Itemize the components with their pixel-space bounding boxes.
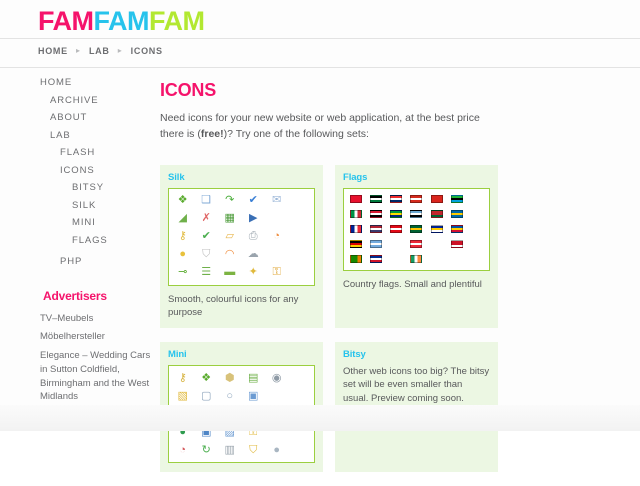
sidebar-item-mini[interactable]: MINI <box>40 218 160 228</box>
flag-bosnia-icon <box>431 225 443 233</box>
shield-icon: ⛉ <box>249 445 257 456</box>
icon-cell: ■ <box>241 405 264 423</box>
flag-zambia-icon <box>350 255 362 263</box>
icon-set-cards: Silk❖❑↷✔✉◢✗▦▶⚷✔▱⎙◔●⛉◠☁⊸☰▬✦⚿Smooth, colou… <box>160 165 622 486</box>
globe-link-icon: ● <box>179 409 186 420</box>
puzzle-icon: ❖ <box>201 373 211 384</box>
flag-cell <box>427 222 447 237</box>
icon-cell <box>265 423 288 441</box>
cart-icon: ⛉ <box>202 249 210 260</box>
icon-cell <box>288 405 311 423</box>
flag-cell <box>386 207 406 222</box>
flag-cell <box>447 207 467 222</box>
resultset-last-icon: ▶ <box>249 213 257 224</box>
icon-cell: ❖ <box>171 192 194 210</box>
sidebar-item-php[interactable]: PHP <box>40 257 160 267</box>
icon-cell: ⚿ <box>265 264 288 282</box>
flag-cell <box>406 222 426 237</box>
icon-cell <box>288 228 311 246</box>
flag-cell <box>386 192 406 207</box>
breadcrumb-item-lab[interactable]: LAB <box>89 46 110 56</box>
flag-cell <box>467 252 487 267</box>
flag-cell <box>406 237 426 252</box>
site-header: FAMFAMFAM <box>0 0 640 34</box>
flag-cell <box>427 207 447 222</box>
chart-line-icon: ✗ <box>202 213 211 224</box>
eye-icon: ◉ <box>272 373 282 384</box>
flag-cell <box>406 207 426 222</box>
sidebar-nav: HOMEARCHIVEABOUTLABFLASHICONSBITSYSILKMI… <box>40 78 160 267</box>
flag-cuba-icon <box>370 255 382 263</box>
page-root: FAMFAMFAM HOME ▸ LAB ▸ ICONS HOMEARCHIVE… <box>0 0 640 431</box>
flag-cell <box>346 192 366 207</box>
icon-cell: ✔ <box>241 192 264 210</box>
sidebar-item-silk[interactable]: SILK <box>40 201 160 211</box>
card-title: Flags <box>343 172 490 183</box>
card-preview-thumbnail[interactable]: ⚷❖⬢▤◉▧▢○▣●□▭■❐●▣▨⚿◔↻▥⛉● <box>168 365 315 463</box>
icon-cell: ⛉ <box>241 441 264 459</box>
breadcrumb-item-home[interactable]: HOME <box>38 46 68 56</box>
flag-cell <box>366 207 386 222</box>
flag-cell <box>467 237 487 252</box>
flag-kyrgyzstan-icon <box>350 195 362 203</box>
breadcrumb-separator-icon: ▸ <box>118 46 123 55</box>
sidebar-item-about[interactable]: ABOUT <box>40 113 160 123</box>
breadcrumb-separator-icon: ▸ <box>76 46 81 55</box>
icon-cell: ☁ <box>241 246 264 264</box>
flag-usa-icon <box>370 225 382 233</box>
card-description: Smooth, colourful icons for any purpose <box>168 293 315 320</box>
lock-icon: ⚿ <box>249 427 257 438</box>
flag-botswana-icon <box>410 210 422 218</box>
key-icon: ⚷ <box>179 373 187 384</box>
page-title: ICONS <box>160 80 622 101</box>
flag-vietnam-icon <box>431 195 443 203</box>
flag-cell <box>386 222 406 237</box>
page-edit-icon: □ <box>203 409 210 420</box>
key-icon: ⚷ <box>179 231 187 242</box>
flag-cell <box>427 237 447 252</box>
disk-icon: ■ <box>250 409 257 420</box>
icon-cell <box>288 192 311 210</box>
icon-cell: ● <box>265 441 288 459</box>
card-preview-thumbnail[interactable]: ❖❑↷✔✉◢✗▦▶⚷✔▱⎙◔●⛉◠☁⊸☰▬✦⚿ <box>168 188 315 286</box>
flag-turkey-icon <box>390 225 402 233</box>
icon-cell: ⛉ <box>194 246 217 264</box>
spellcheck-icon: ✔ <box>249 195 258 206</box>
icon-cell: ⎙ <box>241 228 264 246</box>
breadcrumb: HOME ▸ LAB ▸ ICONS <box>0 39 640 63</box>
icon-cell: ⬢ <box>218 369 241 387</box>
page-columns: HOMEARCHIVEABOUTLABFLASHICONSBITSYSILKMI… <box>0 68 640 486</box>
icon-cell: ▧ <box>171 387 194 405</box>
card-title: Bitsy <box>343 349 490 360</box>
flag-grid <box>346 192 487 267</box>
icon-grid: ⚷❖⬢▤◉▧▢○▣●□▭■❐●▣▨⚿◔↻▥⛉● <box>171 369 312 459</box>
icon-cell: ▭ <box>218 405 241 423</box>
printer-icon: ⎙ <box>249 231 258 242</box>
screen-icon: ▣ <box>201 427 211 438</box>
icon-cell: ● <box>171 423 194 441</box>
advertiser-link[interactable]: TV–Meubels <box>40 312 160 326</box>
icon-cell: ▶ <box>241 210 264 228</box>
flag-argentina-icon <box>370 240 382 248</box>
sitemap-icon: ☰ <box>201 267 211 278</box>
chart-bar-icon: ▦ <box>225 213 235 224</box>
icon-cell: ❑ <box>194 192 217 210</box>
flag-cell <box>366 237 386 252</box>
flag-cell <box>366 192 386 207</box>
sidebar-item-home[interactable]: HOME <box>40 78 160 88</box>
icon-cell: □ <box>194 405 217 423</box>
box-icon: ⬢ <box>225 373 235 384</box>
intro-paragraph: Need icons for your new website or web a… <box>160 111 500 143</box>
flag-cell <box>447 237 467 252</box>
card-preview-thumbnail[interactable] <box>343 188 490 271</box>
icon-cell <box>288 246 311 264</box>
logo-part-2: FAM <box>94 6 150 36</box>
accept-icon: ✔ <box>202 231 211 242</box>
icon-cell: ○ <box>218 387 241 405</box>
icon-cell: ▤ <box>241 369 264 387</box>
icon-cell: ◉ <box>265 369 288 387</box>
icon-cell: ◔ <box>265 228 288 246</box>
icon-cell: ▥ <box>218 441 241 459</box>
flag-cell <box>406 252 426 267</box>
flag-cell <box>366 222 386 237</box>
advertiser-link[interactable]: Elegance – Wedding Cars in Sutton Coldfi… <box>40 349 160 404</box>
icon-cell <box>288 423 311 441</box>
flag-mauritania-icon <box>410 225 422 233</box>
icon-cell: ✉ <box>265 192 288 210</box>
flag-cell <box>346 207 366 222</box>
icon-set-card-silk[interactable]: Silk❖❑↷✔✉◢✗▦▶⚷✔▱⎙◔●⛉◠☁⊸☰▬✦⚿Smooth, colou… <box>160 165 323 329</box>
sidebar-item-flags[interactable]: FLAGS <box>40 236 160 246</box>
flag-cell <box>447 192 467 207</box>
arrow-redo-icon: ↷ <box>225 195 234 206</box>
flag-cell <box>467 222 487 237</box>
chart-area-icon: ◢ <box>179 213 187 224</box>
database-icon: ▧ <box>178 391 188 402</box>
icon-set-card-mini[interactable]: Mini⚷❖⬢▤◉▧▢○▣●□▭■❐●▣▨⚿◔↻▥⛉● <box>160 342 323 472</box>
icon-cell: ⚷ <box>171 228 194 246</box>
folder-icon: ▱ <box>225 231 233 242</box>
icon-cell <box>288 387 311 405</box>
world-icon: ● <box>179 427 186 438</box>
sidebar-item-bitsy[interactable]: BITSY <box>40 183 160 193</box>
flag-cell <box>386 252 406 267</box>
main-content: ICONS Need icons for your new website or… <box>160 68 640 486</box>
icon-cell: ☰ <box>194 264 217 282</box>
flag-sweden-icon <box>451 210 463 218</box>
flag-cell <box>406 192 426 207</box>
flag-indonesia-icon <box>451 240 463 248</box>
flag-cell <box>346 237 366 252</box>
coins-icon: ● <box>179 249 186 260</box>
icon-cell: ▦ <box>218 210 241 228</box>
globe-grey-icon: ● <box>273 445 280 456</box>
icon-set-card-flags[interactable]: FlagsCountry flags. Small and plentiful <box>335 165 498 329</box>
flag-norway-icon <box>390 195 402 203</box>
icon-cell <box>265 387 288 405</box>
icon-cell: ● <box>171 405 194 423</box>
flag-brazil-icon <box>390 210 402 218</box>
card-description: Other web icons too big? The bitsy set w… <box>343 365 490 405</box>
refresh-icon: ↻ <box>202 445 211 456</box>
flag-france-icon <box>350 225 362 233</box>
sidebar-item-lab[interactable]: LAB <box>40 131 160 141</box>
icon-cell: ↷ <box>218 192 241 210</box>
icon-cell: ● <box>171 246 194 264</box>
page-save-icon: ❑ <box>201 195 211 206</box>
flag-switzerland-icon <box>410 195 422 203</box>
icon-cell: ◢ <box>171 210 194 228</box>
icon-cell: ❖ <box>194 369 217 387</box>
logo-part-3: FAM <box>149 6 205 36</box>
form-icon: ▤ <box>248 373 258 384</box>
rss-globe-icon: ◔ <box>179 445 186 456</box>
sidebar-item-archive[interactable]: ARCHIVE <box>40 96 160 106</box>
icon-cell: ⊸ <box>171 264 194 282</box>
monitor-icon: ▢ <box>201 391 211 402</box>
lock-icon: ⚿ <box>272 267 280 278</box>
flag-cell <box>447 222 467 237</box>
card-icon: ▭ <box>225 409 235 420</box>
drive-icon: ▥ <box>225 445 235 456</box>
flag-tanzania-icon <box>451 195 463 203</box>
logo-part-1: FAM <box>38 6 94 36</box>
sidebar: HOMEARCHIVEABOUTLABFLASHICONSBITSYSILKMI… <box>0 68 160 409</box>
icon-set-card-bitsy[interactable]: BitsyOther web icons too big? The bitsy … <box>335 342 498 472</box>
flag-cell <box>366 252 386 267</box>
flag-austria-icon <box>410 240 422 248</box>
icon-cell <box>288 210 311 228</box>
card-title: Silk <box>168 172 315 183</box>
advertiser-link[interactable]: Möbelhersteller <box>40 330 160 344</box>
flag-germany-icon <box>350 240 362 248</box>
icon-cell: ✗ <box>194 210 217 228</box>
flag-morocco-icon <box>431 210 443 218</box>
icon-cell: ◔ <box>171 441 194 459</box>
icon-cell: ▨ <box>218 423 241 441</box>
advertisers-title: Advertisers <box>43 289 160 303</box>
icon-cell: ▢ <box>194 387 217 405</box>
icon-cell: ↻ <box>194 441 217 459</box>
flag-ireland-icon <box>410 255 422 263</box>
icon-cell <box>288 369 311 387</box>
icon-cell: ◠ <box>218 246 241 264</box>
flag-cell <box>467 192 487 207</box>
card-title: Mini <box>168 349 315 360</box>
icon-cell <box>288 264 311 282</box>
flag-aland-icon <box>451 225 463 233</box>
icon-cell: ❐ <box>265 405 288 423</box>
sidebar-item-flash[interactable]: FLASH <box>40 148 160 158</box>
window-icon: ▣ <box>248 391 258 402</box>
flag-trinidad-icon <box>370 210 382 218</box>
advertisers-list: TV–MeubelsMöbelherstellerElegance – Wedd… <box>40 312 160 405</box>
icon-grid: ❖❑↷✔✉◢✗▦▶⚷✔▱⎙◔●⛉◠☁⊸☰▬✦⚿ <box>171 192 312 282</box>
icon-cell <box>288 441 311 459</box>
wand-icon: ✦ <box>249 267 258 278</box>
icon-cell: ▬ <box>218 264 241 282</box>
weather-cloud-icon: ☁ <box>248 249 259 260</box>
icon-cell: ▣ <box>241 387 264 405</box>
intro-text-after: )? Try one of the following sets: <box>224 128 369 140</box>
flag-cell <box>346 252 366 267</box>
flag-cell <box>386 237 406 252</box>
image-icon: ▨ <box>225 427 235 438</box>
wireless-icon: ◠ <box>225 249 235 260</box>
flag-italy-icon <box>350 210 362 218</box>
email-open-icon: ✉ <box>272 195 281 206</box>
comment-icon: ○ <box>226 391 233 402</box>
icon-cell: ✦ <box>241 264 264 282</box>
icon-cell: ▱ <box>218 228 241 246</box>
flag-cell <box>427 252 447 267</box>
plugin-icon: ⊸ <box>178 267 187 278</box>
sidebar-item-icons[interactable]: ICONS <box>40 166 160 176</box>
icon-cell: ✔ <box>194 228 217 246</box>
site-logo[interactable]: FAMFAMFAM <box>38 8 640 35</box>
icon-cell <box>265 210 288 228</box>
breadcrumb-item-icons[interactable]: ICONS <box>131 46 163 56</box>
money-icon: ▬ <box>224 267 235 278</box>
flag-palestine-icon <box>370 195 382 203</box>
page-copy-icon: ❐ <box>272 409 282 420</box>
icon-cell: ⚷ <box>171 369 194 387</box>
icon-cell <box>265 246 288 264</box>
icon-cell: ⚿ <box>241 423 264 441</box>
flag-cell <box>427 192 447 207</box>
intro-emphasis: free! <box>201 128 224 140</box>
icon-cell: ▣ <box>194 423 217 441</box>
flag-cell <box>447 252 467 267</box>
flag-cell <box>346 222 366 237</box>
puzzle-icon: ❖ <box>178 195 188 206</box>
card-description: Country flags. Small and plentiful <box>343 278 490 291</box>
flag-cell <box>467 207 487 222</box>
rss-icon: ◔ <box>273 231 280 242</box>
